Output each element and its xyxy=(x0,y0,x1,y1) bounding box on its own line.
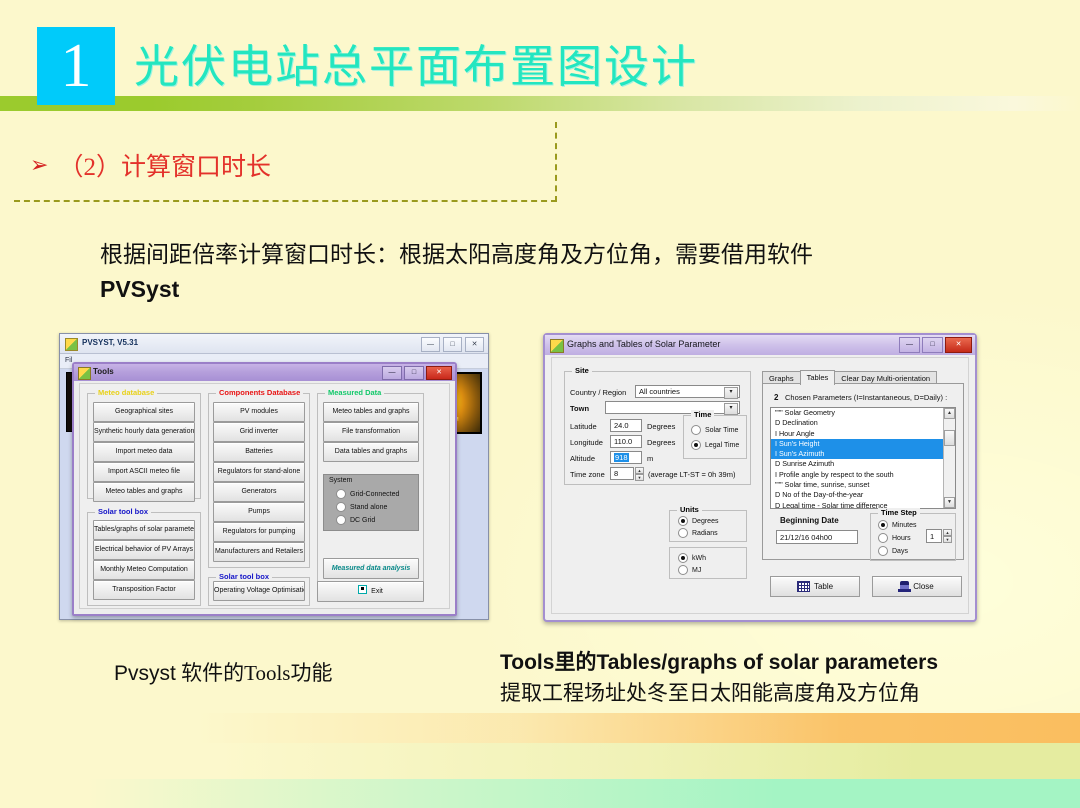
radio-degrees[interactable]: Degrees xyxy=(678,516,718,526)
list-item[interactable]: I Hour Angle xyxy=(771,429,955,439)
button-regulators-for-pumping[interactable]: Regulators for pumping xyxy=(213,522,305,542)
altitude-input[interactable]: 918 xyxy=(610,451,642,464)
chevron-down-icon[interactable]: ▾ xyxy=(724,387,738,399)
group-label-meteo-database: Meteo database xyxy=(95,388,157,397)
section-number-box: 1 xyxy=(37,27,115,105)
bullet-arrow-icon: ➢ xyxy=(30,154,48,176)
button-batteries[interactable]: Batteries xyxy=(213,442,305,462)
caption-right: Tools里的Tables/graphs of solar parameters… xyxy=(500,648,1060,708)
units-group-label: Units xyxy=(677,505,702,514)
button-meteo-tables-and-graphs-md[interactable]: Meteo tables and graphs xyxy=(323,402,419,422)
radio-grid-connected[interactable]: Grid-Connected xyxy=(336,489,399,499)
solar-parameter-dialog[interactable]: Graphs and Tables of Solar Parameter — □… xyxy=(543,333,977,622)
button-electrical-behavior-of-pv-arrays[interactable]: Electrical behavior of PV Arrays xyxy=(93,540,195,560)
radio-legal-time-label: Legal Time xyxy=(705,442,739,449)
body-paragraph-latin: PVSyst xyxy=(100,276,179,302)
tools-window[interactable]: Tools — □ ✕ Meteo database Geographical … xyxy=(72,362,457,616)
caption-left-zh: 软件的Tools功能 xyxy=(176,661,333,685)
solar-dialog-body: Site Country / Region All countries ▾ To… xyxy=(551,357,969,614)
close-icon[interactable]: ✕ xyxy=(465,337,484,352)
button-grid-inverter[interactable]: Grid inverter xyxy=(213,422,305,442)
list-item[interactable]: """ Solar Geometry xyxy=(771,408,955,418)
list-item[interactable]: D Sunrise Azimuth xyxy=(771,459,955,469)
timezone-input[interactable]: 8 xyxy=(610,467,634,480)
solar-dialog-window-controls[interactable]: — □ ✕ xyxy=(899,337,972,353)
radio-legal-time[interactable]: Legal Time xyxy=(691,440,739,450)
latitude-unit: Degrees xyxy=(647,422,675,431)
close-door-icon xyxy=(900,581,909,592)
chevron-down-icon-town[interactable]: ▾ xyxy=(724,403,738,415)
button-measured-data-analysis[interactable]: Measured data analysis xyxy=(323,558,419,579)
solar-close-icon[interactable]: ✕ xyxy=(945,337,972,353)
time-step-spinner[interactable]: ▲▼ xyxy=(943,529,952,543)
radio-dc-grid-label: DC Grid xyxy=(350,517,375,524)
town-label: Town xyxy=(570,404,589,413)
radio-radians-label: Radians xyxy=(692,530,718,537)
bullet-row: ➢ （2）计算窗口时长 xyxy=(30,147,271,183)
bullet-label: （2）计算窗口时长 xyxy=(58,147,271,183)
pvsyst-window-controls[interactable]: — □ ✕ xyxy=(421,337,484,352)
title-underline-bar xyxy=(0,96,1080,111)
button-file-transformation[interactable]: File transformation xyxy=(323,422,419,442)
radio-minutes[interactable]: Minutes xyxy=(878,520,917,530)
tools-window-title: Tools xyxy=(93,367,114,376)
radio-grid-connected-label: Grid-Connected xyxy=(350,491,399,498)
caption-right-line2: 提取工程场址处冬至日太阳能高度角及方位角 xyxy=(500,678,1060,708)
list-item[interactable]: D Legal time - Solar time difference xyxy=(771,501,955,509)
radio-dc-grid[interactable]: DC Grid xyxy=(336,515,375,525)
tools-minimize-icon[interactable]: — xyxy=(382,366,402,380)
altitude-label: Altitude xyxy=(570,454,595,463)
radio-hours[interactable]: Hours xyxy=(878,533,911,543)
close-button-label: Close xyxy=(913,582,933,591)
table-button-label: Table xyxy=(814,582,833,591)
minimize-icon[interactable]: — xyxy=(421,337,440,352)
body-paragraph-zh: 根据间距倍率计算窗口时长：根据太阳高度角及方位角，需要借用软件 xyxy=(100,242,813,267)
button-import-ascii-meteo-file[interactable]: Import ASCII meteo file xyxy=(93,462,195,482)
solar-dialog-title: Graphs and Tables of Solar Parameter xyxy=(567,339,720,349)
caption-left-latin: Pvsyst xyxy=(114,662,176,685)
footer-orange-band xyxy=(0,713,1080,743)
solar-dialog-titlebar[interactable]: Graphs and Tables of Solar Parameter — □… xyxy=(545,335,975,355)
tools-logo-icon xyxy=(78,367,91,380)
table-icon xyxy=(797,581,810,592)
longitude-input[interactable]: 110.0 xyxy=(610,435,642,448)
latitude-input[interactable]: 24.0 xyxy=(610,419,642,432)
radio-mj-label: MJ xyxy=(692,567,701,574)
scroll-up-icon[interactable]: ▲ xyxy=(944,408,955,419)
radio-hours-label: Hours xyxy=(892,535,911,542)
chosen-count: 2 xyxy=(774,393,778,402)
scroll-down-icon[interactable]: ▼ xyxy=(944,497,955,508)
button-transposition-factor[interactable]: Transposition Factor xyxy=(93,580,195,600)
button-regulators-for-stand-alone[interactable]: Regulators for stand-alone xyxy=(213,462,305,482)
system-radio-group: System Grid-Connected Stand alone DC Gri… xyxy=(323,474,419,531)
latitude-label: Latitude xyxy=(570,422,597,431)
radio-days-label: Days xyxy=(892,548,908,555)
tools-titlebar[interactable]: Tools — □ ✕ xyxy=(74,364,455,381)
altitude-value: 918 xyxy=(614,453,629,462)
parameter-listbox[interactable]: """ Solar Geometry D Declination I Hour … xyxy=(770,407,956,509)
button-import-meteo-data[interactable]: Import meteo data xyxy=(93,442,195,462)
list-item[interactable]: """ Solar time, sunrise, sunset xyxy=(771,480,955,490)
maximize-icon[interactable]: □ xyxy=(443,337,462,352)
button-pv-modules[interactable]: PV modules xyxy=(213,402,305,422)
timezone-label: Time zone xyxy=(570,470,605,479)
radio-kwh[interactable]: kWh xyxy=(678,553,706,563)
radio-kwh-label: kWh xyxy=(692,555,706,562)
button-pumps[interactable]: Pumps xyxy=(213,502,305,522)
button-exit[interactable]: Exit xyxy=(317,581,424,602)
scrollbar-thumb[interactable] xyxy=(944,430,955,446)
radio-days[interactable]: Days xyxy=(878,546,908,556)
radio-mj[interactable]: MJ xyxy=(678,565,701,575)
tools-window-controls[interactable]: — □ ✕ xyxy=(382,366,452,380)
page-title: 光伏电站总平面布置图设计 xyxy=(134,30,698,95)
country-region-value: All countries xyxy=(639,387,680,396)
system-group-label: System xyxy=(329,477,352,484)
beginning-date-label: Beginning Date xyxy=(780,516,839,525)
table-button[interactable]: Table xyxy=(770,576,860,597)
timezone-spinner[interactable]: ▲▼ xyxy=(635,467,644,480)
button-meteo-tables-and-graphs[interactable]: Meteo tables and graphs xyxy=(93,482,195,502)
solar-maximize-icon[interactable]: □ xyxy=(922,337,943,353)
time-step-group-label: Time Step xyxy=(878,508,920,517)
radio-solar-time[interactable]: Solar Time xyxy=(691,425,738,435)
exit-label: Exit xyxy=(371,588,383,595)
altitude-unit: m xyxy=(647,454,653,463)
timezone-note: (average LT-ST = 0h 39m) xyxy=(648,470,735,479)
list-item[interactable]: I Profile angle by respect to the south xyxy=(771,470,955,480)
group-label-solar-tool-box-left: Solar tool box xyxy=(95,507,151,516)
caption-left: Pvsyst 软件的Tools功能 xyxy=(114,657,332,687)
solar-minimize-icon[interactable]: — xyxy=(899,337,920,353)
beginning-date-input[interactable]: 21/12/16 04h00 xyxy=(776,530,858,544)
site-group-label: Site xyxy=(572,366,592,375)
button-data-tables-and-graphs[interactable]: Data tables and graphs xyxy=(323,442,419,462)
group-label-measured-data: Measured Data xyxy=(325,388,384,397)
radio-solar-time-label: Solar Time xyxy=(705,427,738,434)
footer-mint-band xyxy=(0,779,1080,808)
town-select[interactable]: ▾ xyxy=(605,401,740,414)
button-manufacturers-and-retailers[interactable]: Manufacturers and Retailers xyxy=(213,542,305,562)
close-button[interactable]: Close xyxy=(872,576,962,597)
radio-radians[interactable]: Radians xyxy=(678,528,718,538)
pvsyst-main-window[interactable]: PVSYST, V5.31 — □ ✕ Fil WWW.PVSYST.COM T… xyxy=(59,333,489,620)
button-operating-voltage-optimisation[interactable]: Operating Voltage Optimisation xyxy=(213,581,305,601)
group-label-components-database: Components Database xyxy=(216,388,303,397)
time-radio-group: Time xyxy=(683,415,747,459)
radio-stand-alone[interactable]: Stand alone xyxy=(336,502,387,512)
chosen-parameters-label: Chosen Parameters (I=Instantaneous, D=Da… xyxy=(785,393,947,402)
tab-tables[interactable]: Tables xyxy=(800,370,836,385)
pvsyst-titlebar[interactable]: PVSYST, V5.31 — □ ✕ xyxy=(60,334,488,354)
button-synthetic-hourly-data-generation[interactable]: Synthetic hourly data generation xyxy=(93,422,195,442)
tools-maximize-icon[interactable]: □ xyxy=(404,366,424,380)
list-item-suns-height[interactable]: I Sun's Height xyxy=(771,439,955,449)
solar-dialog-logo-icon xyxy=(550,339,564,353)
radio-stand-alone-label: Stand alone xyxy=(350,504,387,511)
list-item-suns-azimuth[interactable]: I Sun's Azimuth xyxy=(771,449,955,459)
country-region-label: Country / Region xyxy=(570,388,626,397)
time-step-value-input[interactable]: 1 xyxy=(926,529,942,543)
tools-close-icon[interactable]: ✕ xyxy=(426,366,452,380)
button-generators[interactable]: Generators xyxy=(213,482,305,502)
longitude-label: Longitude xyxy=(570,438,603,447)
pvsyst-window-title: PVSYST, V5.31 xyxy=(82,338,138,347)
time-group-label: Time xyxy=(691,410,714,419)
country-region-select[interactable]: All countries ▾ xyxy=(635,385,740,398)
radio-minutes-label: Minutes xyxy=(892,522,917,529)
pvsyst-logo-icon xyxy=(65,338,78,351)
group-label-solar-tool-box-bottom: Solar tool box xyxy=(216,572,272,581)
button-tables-graphs-of-solar-parameters[interactable]: Tables/graphs of solar parameters xyxy=(93,520,195,540)
body-paragraph: 根据间距倍率计算窗口时长：根据太阳高度角及方位角，需要借用软件 PVSyst xyxy=(100,238,970,307)
list-item[interactable]: D No of the Day-of-the-year xyxy=(771,490,955,500)
longitude-unit: Degrees xyxy=(647,438,675,447)
tools-body: Meteo database Geographical sites Synthe… xyxy=(79,383,450,609)
button-monthly-meteo-computation[interactable]: Monthly Meteo Computation xyxy=(93,560,195,580)
list-item[interactable]: D Declination xyxy=(771,418,955,428)
footer-pale-band xyxy=(0,743,1080,779)
radio-degrees-label: Degrees xyxy=(692,518,718,525)
listbox-scrollbar[interactable]: ▲ ▼ xyxy=(943,408,955,508)
caption-right-line1: Tools里的Tables/graphs of solar parameters xyxy=(500,648,1060,678)
button-geographical-sites[interactable]: Geographical sites xyxy=(93,402,195,422)
